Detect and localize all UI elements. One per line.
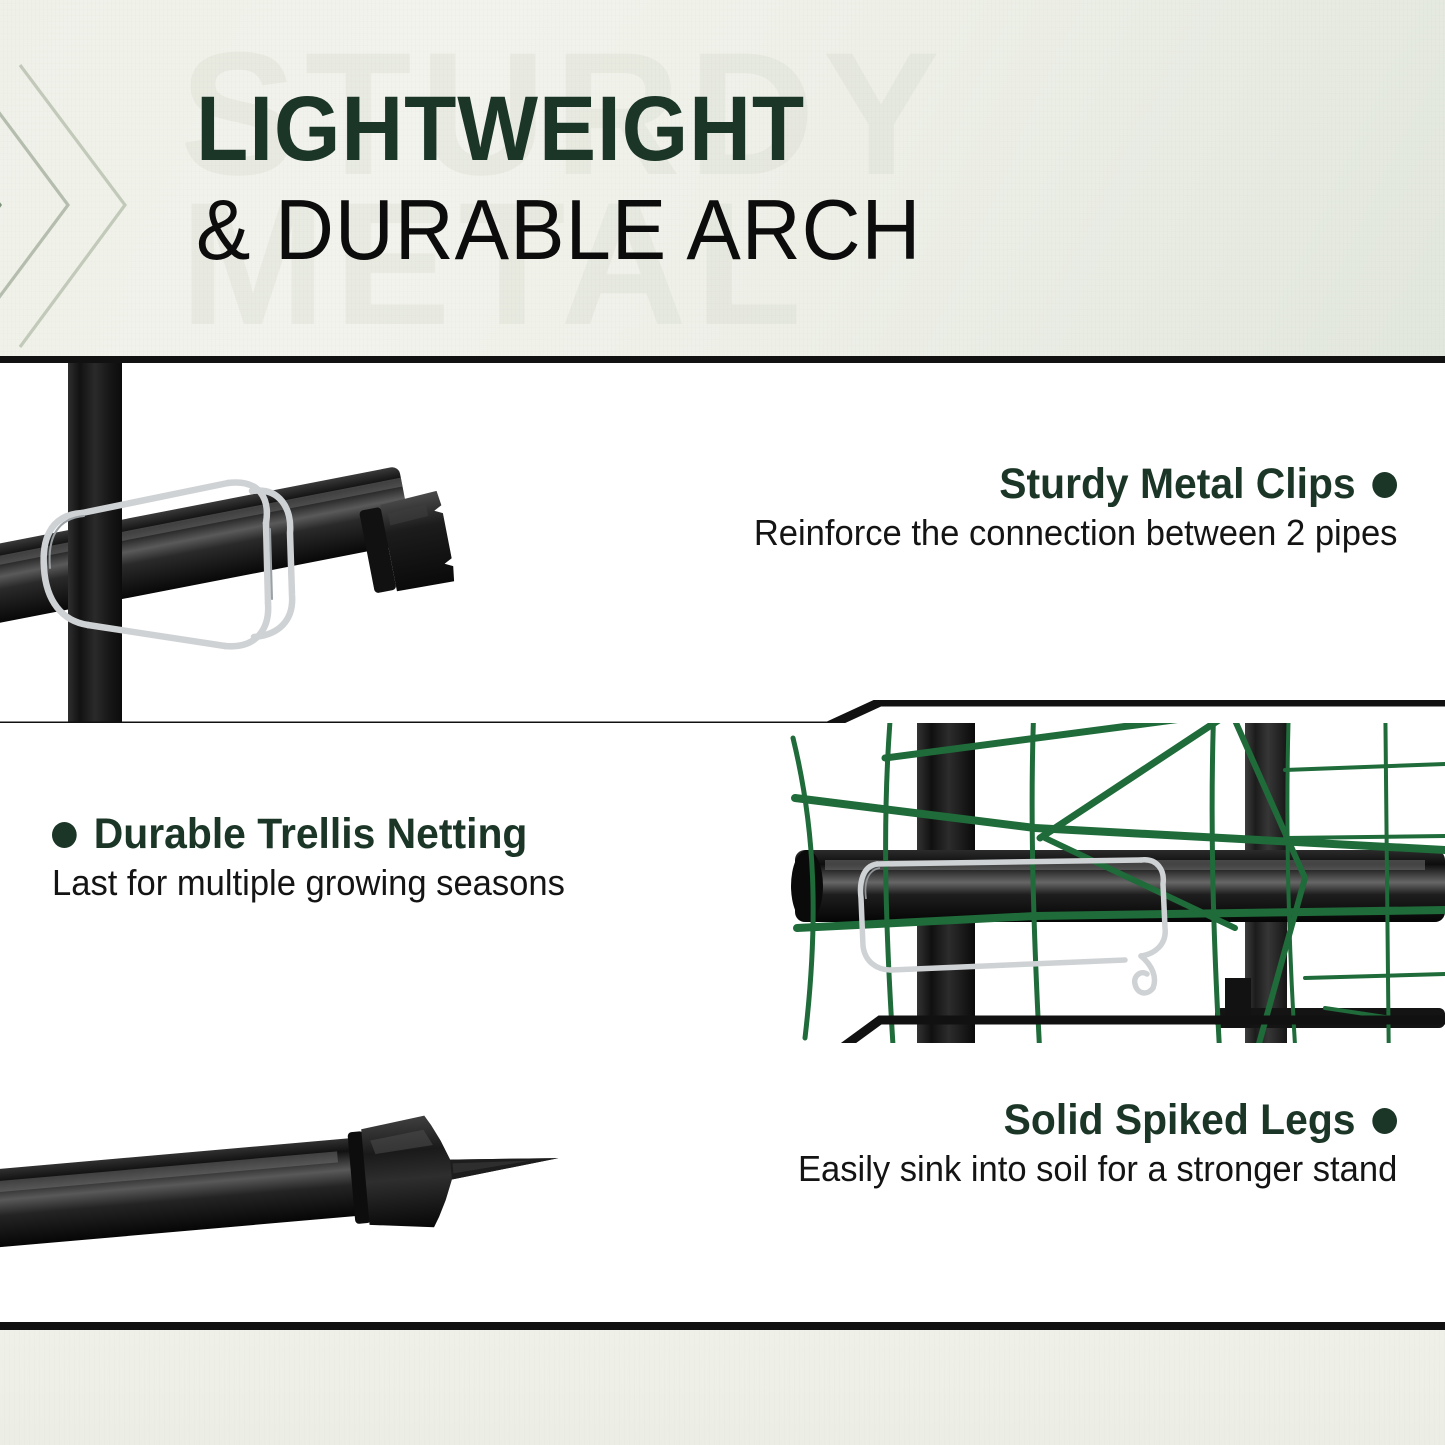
product-infographic: STURDY METAL LIGHTWEIGHT & DURABLE ARCH [0,0,1445,1445]
headline-secondary: & DURABLE ARCH [196,188,921,273]
feature-title-text: Durable Trellis Netting [94,810,528,858]
photo-spiked-leg [0,1073,640,1303]
header-bottom-rule [0,356,1445,363]
feature-subtitle-durable-trellis-netting: Last for multiple growing seasons [52,859,565,907]
feature-title-solid-spiked-legs: Solid Spiked Legs [804,1095,1397,1145]
header-titles: LIGHTWEIGHT & DURABLE ARCH [0,0,1445,363]
footer-top-rule [0,1322,1445,1330]
callout-durable-trellis-netting: Durable Trellis Netting Last for multipl… [52,809,586,907]
photo-trellis-netting [785,723,1445,1043]
feature-subtitle-sturdy-metal-clips: Reinforce the connection between 2 pipes [753,509,1397,557]
callout-solid-spiked-legs: Solid Spiked Legs Easily sink into soil … [773,1095,1397,1193]
feature-panel-durable-trellis-netting: Durable Trellis Netting Last for multipl… [0,723,1445,1043]
feature-title-text: Sturdy Metal Clips [999,460,1355,508]
headline-primary: LIGHTWEIGHT [196,83,805,175]
feature-panel-solid-spiked-legs: Solid Spiked Legs Easily sink into soil … [0,1043,1445,1325]
bullet-dot-icon [52,822,77,848]
feature-panel-sturdy-metal-clips: Sturdy Metal Clips Reinforce the connect… [0,363,1445,723]
feature-title-sturdy-metal-clips: Sturdy Metal Clips [760,459,1397,509]
feature-title-text: Solid Spiked Legs [1003,1096,1355,1144]
photo-metal-clip [0,363,610,723]
bullet-dot-icon [1372,472,1397,498]
footer-band [0,1330,1445,1445]
feature-subtitle-solid-spiked-legs: Easily sink into soil for a stronger sta… [798,1145,1397,1193]
header-banner: STURDY METAL LIGHTWEIGHT & DURABLE ARCH [0,0,1445,363]
footer-paper-texture [0,1330,1445,1445]
bullet-dot-icon [1372,1108,1397,1134]
callout-sturdy-metal-clips: Sturdy Metal Clips Reinforce the connect… [727,459,1397,557]
feature-title-durable-trellis-netting: Durable Trellis Netting [52,809,560,859]
